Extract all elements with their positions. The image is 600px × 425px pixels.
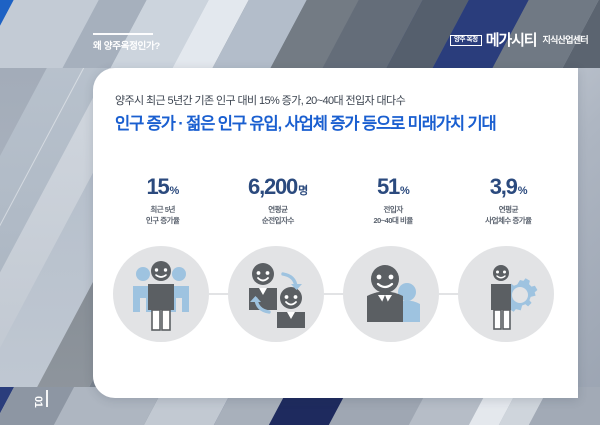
brand-badge: 양주 옥정 <box>450 35 482 47</box>
group-people-icon <box>113 246 209 342</box>
page-number: 01 <box>32 390 48 407</box>
stat-value: 6,200명 <box>220 176 335 198</box>
stat-unit: % <box>518 185 527 197</box>
stat-label-line2: 사업체수 증가율 <box>485 216 531 225</box>
stat-number: 3,9 <box>490 174 517 199</box>
brand-subtitle: 지식산업센터 <box>543 36 588 45</box>
stat-unit: 명 <box>298 185 308 197</box>
stat-label-line2: 순전입자수 <box>262 216 294 225</box>
icon-cell-migration <box>228 246 324 342</box>
stat-unit: % <box>170 185 179 197</box>
stat-label-line1: 연평균 <box>268 205 287 214</box>
stat-item-net-migration: 6,200명 연평균 순전입자수 <box>220 176 335 227</box>
page-number-text: 01 <box>32 396 43 407</box>
stat-label: 최근 5년 인구 증가율 <box>105 205 220 227</box>
stat-label: 연평균 순전입자수 <box>220 205 335 227</box>
stat-label-line2: 20~40대 비율 <box>373 216 412 225</box>
stat-label: 연평균 사업체수 증가율 <box>451 205 566 227</box>
migration-arrows-icon <box>228 246 324 342</box>
stat-number: 51 <box>377 174 399 199</box>
person-gear-icon <box>458 246 554 342</box>
stat-item-business-growth: 3,9% 연평균 사업체수 증가율 <box>451 176 566 227</box>
stat-label-line1: 연평균 <box>499 205 518 214</box>
stat-label-line1: 전입자 <box>384 205 403 214</box>
stat-label-line2: 인구 증가율 <box>146 216 180 225</box>
stat-number: 6,200 <box>248 174 297 199</box>
stat-number: 15 <box>146 174 168 199</box>
content-card: 양주시 최근 5년간 기존 인구 대비 15% 증가, 20~40대 전입자 대… <box>93 68 578 398</box>
stat-unit: % <box>400 185 409 197</box>
stat-label: 전입자 20~40대 비율 <box>336 205 451 227</box>
stats-row: 15% 최근 5년 인구 증가율 6,200명 연평균 순전입자수 51% <box>105 176 566 227</box>
section-title: 왜 양주옥정인가? <box>93 38 160 52</box>
icon-cell-business-person <box>343 246 439 342</box>
card-headline: 인구 증가 · 젊은 인구 유입, 사업체 증가 등으로 미래가치 기대 <box>115 110 496 134</box>
stat-value: 3,9% <box>451 176 566 198</box>
stat-item-population-growth: 15% 최근 5년 인구 증가율 <box>105 176 220 227</box>
slide-root: 왜 양주옥정인가? 양주 옥정 메가시티 지식산업센터 01 양주시 최근 5년… <box>0 0 600 425</box>
stat-item-age-ratio: 51% 전입자 20~40대 비율 <box>336 176 451 227</box>
icon-cell-person-gear <box>458 246 554 342</box>
icon-row <box>105 246 566 342</box>
brand-lockup: 양주 옥정 메가시티 지식산업센터 <box>450 33 588 48</box>
icon-cell-group-people <box>113 246 209 342</box>
header-rule <box>93 33 153 35</box>
business-person-icon <box>343 246 439 342</box>
stat-value: 51% <box>336 176 451 198</box>
card-kicker: 양주시 최근 5년간 기존 인구 대비 15% 증가, 20~40대 전입자 대… <box>115 92 405 108</box>
brand-name: 메가시티 <box>486 33 537 48</box>
page-number-bar <box>46 390 48 407</box>
stat-value: 15% <box>105 176 220 198</box>
stat-label-line1: 최근 5년 <box>150 205 174 214</box>
